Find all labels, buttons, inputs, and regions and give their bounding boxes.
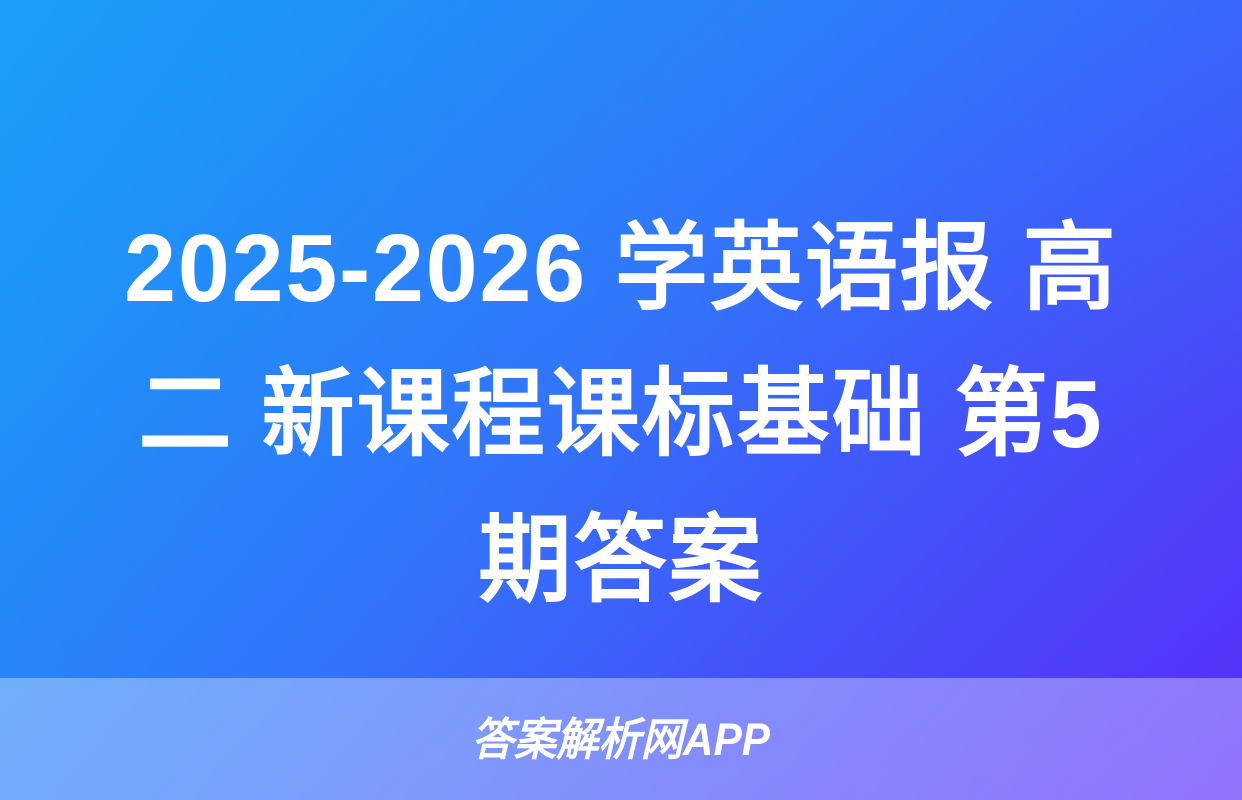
title-line-2: 二 新课程课标基础 第5: [73, 342, 1169, 488]
title-line-3: 期答案: [73, 488, 1169, 634]
page-title: 2025-2026 学英语报 高 二 新课程课标基础 第5 期答案: [0, 196, 1242, 634]
title-line-1: 2025-2026 学英语报 高: [73, 196, 1169, 342]
poster-canvas: 2025-2026 学英语报 高 二 新课程课标基础 第5 期答案 答案解析网A…: [0, 0, 1242, 800]
footer-banner: 答案解析网APP: [0, 678, 1242, 800]
app-brand-label: 答案解析网APP: [472, 717, 770, 762]
